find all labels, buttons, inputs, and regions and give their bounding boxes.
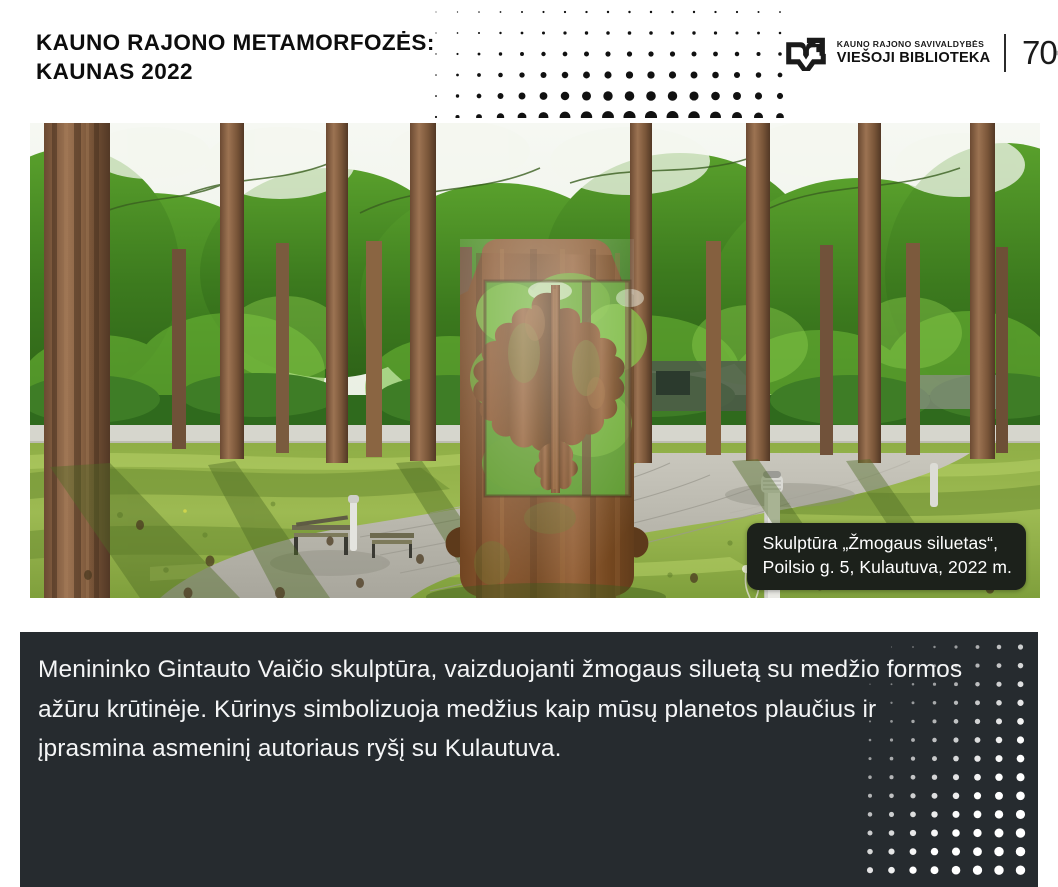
logo-divider: [1004, 34, 1006, 72]
anniversary-number: 70: [1022, 34, 1057, 72]
logo-line-2: VIEŠOJI BIBLIOTEKA: [837, 51, 991, 66]
slide-header: KAUNO RAJONO METAMORFOZĖS: KAUNAS 2022 K…: [0, 0, 1058, 123]
logo-wordmark: KAUNO RAJONO SAVIVALDYBĖS VIEŠOJI BIBLIO…: [837, 40, 991, 65]
logo-line-1: KAUNO RAJONO SAVIVALDYBĖS: [837, 40, 991, 49]
slide: KAUNO RAJONO METAMORFOZĖS: KAUNAS 2022 K…: [0, 0, 1058, 887]
library-logo[interactable]: KAUNO RAJONO SAVIVALDYBĖS VIEŠOJI BIBLIO…: [784, 30, 1058, 76]
photo-caption: Skulptūra „Žmogaus siluetas“, Poilsio g.…: [747, 523, 1026, 590]
sculpture-silhouette: [446, 239, 649, 598]
page-title: KAUNO RAJONO METAMORFOZĖS: KAUNAS 2022: [36, 29, 506, 87]
sculpture-photo: Skulptūra „Žmogaus siluetas“, Poilsio g.…: [30, 123, 1040, 598]
open-book-icon: [784, 35, 828, 71]
bollard-light: [930, 463, 938, 507]
description-panel: Menininko Gintauto Vaičio skulptūra, vai…: [20, 632, 1038, 887]
anniversary-badge: 70: [1022, 34, 1058, 72]
description-text: Menininko Gintauto Vaičio skulptūra, vai…: [38, 650, 968, 769]
